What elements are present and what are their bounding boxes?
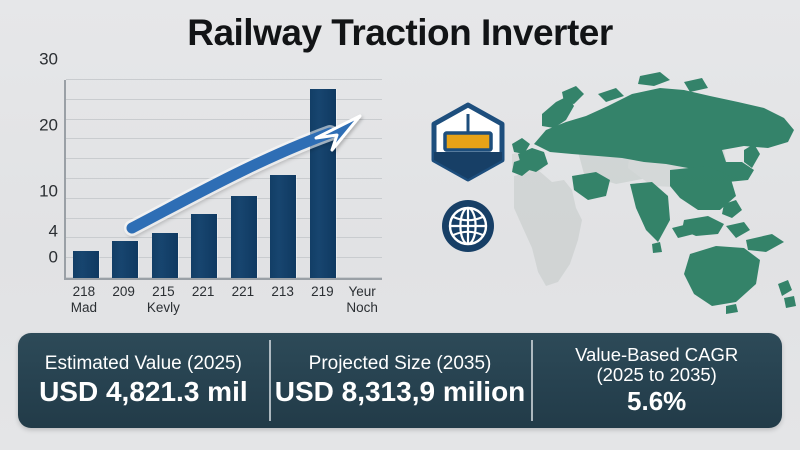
y-axis-tick: 10 xyxy=(39,182,58,202)
chart-bar xyxy=(270,175,296,278)
bar-slot xyxy=(145,80,185,278)
stats-bar: Estimated Value (2025) USD 4,821.3 mil P… xyxy=(18,333,782,428)
infographic-canvas: Railway Traction Inverter 30201040 xyxy=(0,0,800,450)
stat-estimated-value: Estimated Value (2025) USD 4,821.3 mil xyxy=(18,333,269,428)
bar-slot xyxy=(303,80,343,278)
y-axis-tick: 20 xyxy=(39,116,58,136)
y-axis-tick: 4 xyxy=(49,221,58,241)
icon-stack xyxy=(418,100,518,270)
x-axis-tick: 219 xyxy=(303,284,343,316)
hexagon-inverter-icon xyxy=(426,100,510,184)
y-axis-tick: 30 xyxy=(39,50,58,70)
x-axis-tick-sub: Mad xyxy=(64,300,104,316)
x-axis-tick-sub: Noch xyxy=(342,300,382,316)
chart-bar xyxy=(152,233,178,278)
stat-value: USD 4,821.3 mil xyxy=(39,376,248,407)
bar-slot xyxy=(185,80,225,278)
chart-x-axis: 218Mad209215Kevly221221213219YeurNoch xyxy=(64,284,382,316)
stat-value: 5.6% xyxy=(627,387,686,416)
x-axis-tick-sub: Kevly xyxy=(144,300,184,316)
page-title: Railway Traction Inverter xyxy=(0,12,800,54)
chart-bar xyxy=(73,251,99,278)
x-axis-tick: 213 xyxy=(263,284,303,316)
chart-bar xyxy=(231,196,257,278)
stat-projected-size: Projected Size (2035) USD 8,313,9 milion xyxy=(269,333,532,428)
chart-bar xyxy=(112,241,138,278)
bar-slot xyxy=(66,80,106,278)
chart-bar xyxy=(191,214,217,278)
chart-plot-area: 30201040 xyxy=(64,80,382,280)
stat-label: Value-Based CAGR xyxy=(575,345,738,365)
x-axis-tick: 215Kevly xyxy=(144,284,184,316)
globe-icon xyxy=(440,198,496,254)
bar-slot xyxy=(343,80,383,278)
stat-value: USD 8,313,9 milion xyxy=(275,376,526,407)
chart-bar xyxy=(310,89,336,278)
stat-label: Projected Size (2035) xyxy=(309,354,492,374)
world-map xyxy=(512,58,800,320)
y-axis-tick: 0 xyxy=(49,248,58,268)
bar-chart: 30201040 218Mad209215Kevly221221213219Ye… xyxy=(14,72,414,317)
stat-label-range: (2025 to 2035) xyxy=(596,365,716,385)
x-axis-tick: 221 xyxy=(223,284,263,316)
x-axis-tick: YeurNoch xyxy=(342,284,382,316)
x-axis-tick: 221 xyxy=(183,284,223,316)
chart-bars xyxy=(66,80,382,278)
bar-slot xyxy=(106,80,146,278)
stat-value-based-cagr: Value-Based CAGR (2025 to 2035) 5.6% xyxy=(531,333,782,428)
stat-label: Estimated Value (2025) xyxy=(45,354,242,374)
bar-slot xyxy=(264,80,304,278)
bar-slot xyxy=(224,80,264,278)
x-axis-tick: 218Mad xyxy=(64,284,104,316)
x-axis-tick: 209 xyxy=(104,284,144,316)
